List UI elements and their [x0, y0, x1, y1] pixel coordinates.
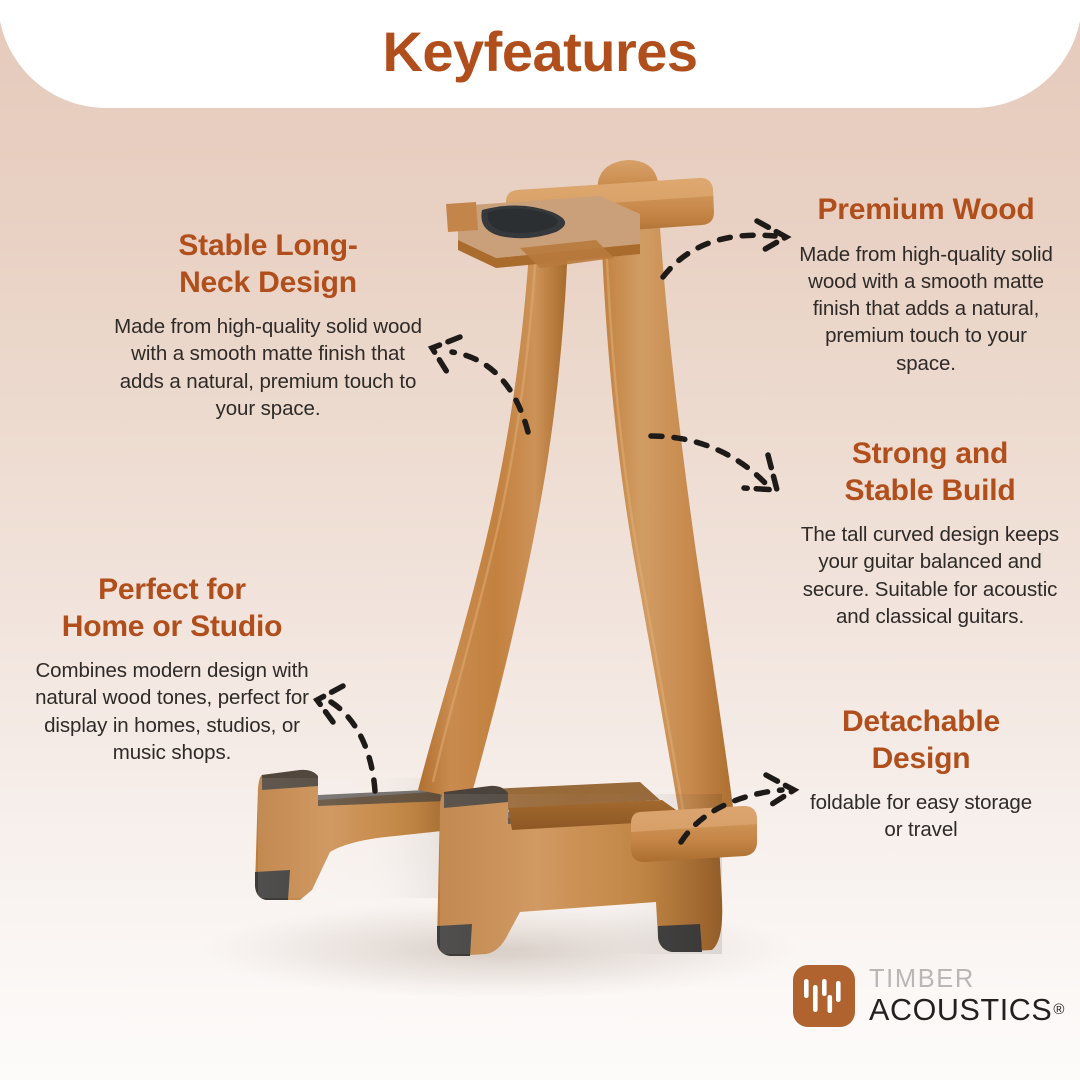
feature-title: Stable Long- Neck Design [108, 228, 428, 301]
feature-title: Premium Wood [795, 192, 1057, 229]
feature-detachable-design: Detachable Design foldable for easy stor… [806, 704, 1036, 844]
front-deck-plate [508, 800, 690, 830]
front-foot [437, 786, 722, 956]
feature-title-line-2: Stable Build [845, 474, 1016, 507]
feature-stable-long-neck-design: Stable Long- Neck Design Made from high-… [108, 228, 428, 422]
page-title: Keyfeatures [0, 0, 1080, 108]
detachable-side-arm [631, 806, 757, 862]
arrow-to-home-studio [317, 686, 375, 791]
feature-body: Made from high-quality solid wood with a… [795, 241, 1057, 377]
rear-foot [255, 770, 470, 900]
brand-wordmark: TIMBER ACOUSTICS® [869, 967, 1064, 1026]
stand-left-arm-highlight [433, 252, 536, 782]
neck-cradle [446, 160, 714, 268]
infographic-canvas: Keyfeatures [0, 0, 1080, 1080]
feature-perfect-for-home-or-studio: Perfect for Home or Studio Combines mode… [22, 572, 322, 766]
feature-title-line-2: Home or Studio [62, 610, 283, 643]
feature-body: foldable for easy storage or travel [806, 789, 1036, 844]
feature-title-line-1: Perfect for [98, 573, 246, 606]
feature-title: Perfect for Home or Studio [22, 572, 322, 645]
feature-body: The tall curved design keeps your guitar… [790, 521, 1070, 630]
arrow-to-stable-neck [432, 337, 528, 432]
stand-left-arm [418, 238, 568, 800]
stand-right-arm [600, 196, 738, 846]
feature-strong-and-stable-build: Strong and Stable Build The tall curved … [790, 436, 1070, 630]
feature-title-line-1: Detachable [842, 705, 1000, 738]
feature-title-line-1: Strong and [852, 437, 1008, 470]
feature-title-line-2: Design [872, 742, 971, 775]
registered-trademark-icon: ® [1053, 1001, 1064, 1018]
feature-body: Made from high-quality solid wood with a… [108, 313, 428, 422]
floor-shadow [200, 902, 800, 998]
stand-right-arm-highlight [605, 214, 687, 834]
brand-name-line-2: ACOUSTICS [869, 993, 1052, 1027]
arrow-to-strong-build [651, 436, 777, 490]
timber-acoustics-mark-icon [793, 965, 855, 1027]
feature-title: Detachable Design [806, 704, 1036, 777]
brand-logo: TIMBER ACOUSTICS® [793, 965, 1064, 1027]
brand-name-line-2-row: ACOUSTICS® [869, 995, 1064, 1026]
feature-premium-wood: Premium Wood Made from high-quality soli… [795, 192, 1057, 377]
arrow-to-detachable [681, 775, 794, 842]
arrow-to-premium-wood [663, 221, 786, 277]
feature-title: Strong and Stable Build [790, 436, 1070, 509]
feature-title-line-2: Neck Design [179, 266, 357, 299]
feature-title-line-1: Stable Long- [178, 229, 357, 262]
brand-name-line-1: TIMBER [869, 967, 1064, 993]
rear-deck [468, 782, 660, 812]
feature-body: Combines modern design with natural wood… [22, 657, 322, 766]
